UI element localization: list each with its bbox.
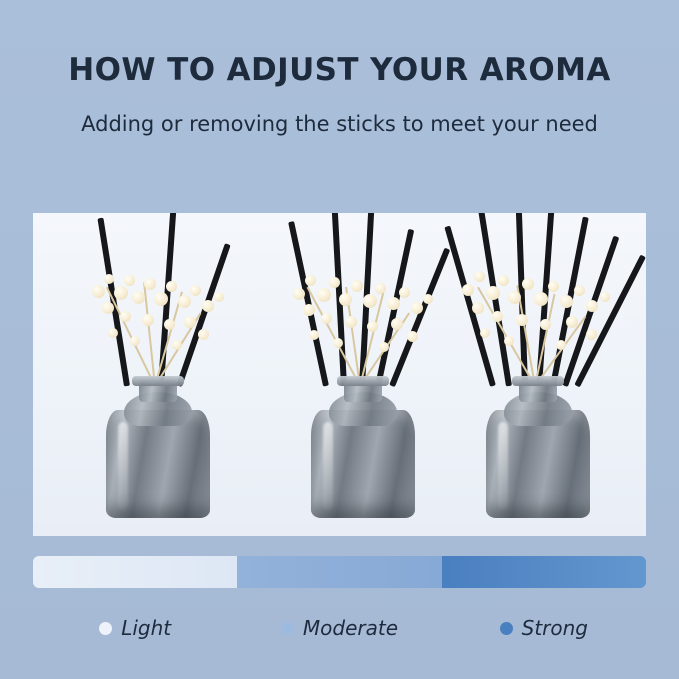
bottle-highlight [118,422,128,510]
legend-label: Moderate [303,616,398,640]
legend-item-moderate: Moderate [237,608,441,648]
flower-bloom [367,321,378,332]
flower-bloom [184,316,196,328]
product-photo [33,213,646,536]
flower-bloom [172,340,182,350]
flower-bloom [317,288,331,302]
flower-bloom [586,329,597,340]
flower-bloom [303,304,315,316]
flower-bloom [498,275,509,286]
legend-item-strong: Strong [442,608,646,648]
flower-bloom [178,295,191,308]
flower-bloom [375,283,386,294]
flower-bloom [586,300,598,312]
diffuser-group-strong [438,213,638,536]
flower-bloom [321,313,332,324]
flower-bloom [214,292,224,302]
flower-bloom [363,294,377,308]
bottle-highlight [498,422,508,510]
intensity-segment-light [33,556,237,588]
legend-dot-strong-icon [500,622,513,635]
flower-bloom [566,316,578,328]
poster-root: HOW TO ADJUST YOUR AROMA Adding or remov… [0,0,679,679]
bottle-highlight [323,422,333,510]
flower-bloom [508,291,521,304]
flower-bloom [379,342,389,352]
flower-bloom [516,314,528,326]
flower-bloom [574,285,585,296]
intensity-bar [33,556,646,588]
flower-bloom [472,302,484,314]
flower-bloom [522,278,534,290]
flower-bloom [540,319,551,330]
reed-stick [176,243,231,387]
legend-item-light: Light [33,608,237,648]
diffuser-bottle [486,378,590,518]
bottle-lip [337,376,389,386]
flower-bloom [600,292,610,302]
flower-bloom [345,316,357,328]
page-subtitle: Adding or removing the sticks to meet yo… [0,112,679,136]
flower-bloom [351,280,363,292]
flower-bloom [92,285,105,298]
flower-bloom [534,292,548,306]
flower-bloom [144,278,156,290]
flower-bloom [142,314,154,326]
flower-bloom [423,294,433,304]
flower-bloom [198,329,209,340]
flower-bloom [474,271,485,282]
bottle-lip [132,376,184,386]
legend-label: Strong [522,616,588,640]
diffuser-bottle [106,378,210,518]
flower-bloom [124,275,135,286]
diffuser-group-moderate [263,213,463,536]
flower-bloom [407,331,418,342]
flower-bloom [329,277,340,288]
flower-bloom [492,311,503,322]
flower-bloom [202,300,214,312]
flower-bloom [190,285,201,296]
flower-bloom [293,288,305,300]
intensity-segment-strong [442,556,646,588]
page-title: HOW TO ADJUST YOUR AROMA [0,52,679,88]
legend: Light Moderate Strong [33,608,646,648]
flower-bloom [305,275,316,286]
flower-bloom [120,311,131,322]
flower-bloom [391,318,403,330]
flower-bloom [480,328,490,338]
flower-bloom [504,336,514,346]
flower-bloom [486,286,500,300]
flower-bloom [130,336,140,346]
legend-label: Light [121,616,171,640]
photo-scene [33,213,646,536]
flower-bloom [339,293,352,306]
bottle-lip [512,376,564,386]
flower-bloom [399,287,410,298]
flower-bloom [154,292,168,306]
flower-bloom [108,328,118,338]
legend-dot-moderate-icon [281,622,294,635]
flower-bloom [548,281,559,292]
intensity-segment-moderate [237,556,441,588]
flower-bloom [462,284,474,296]
diffuser-group-light [58,213,258,536]
flower-bloom [132,291,145,304]
flower-bloom [556,340,566,350]
flower-bloom [387,297,400,310]
flower-bloom [411,302,423,314]
legend-dot-light-icon [99,622,112,635]
flower-bloom [166,281,177,292]
flower-bloom [333,338,343,348]
diffuser-bottle [311,378,415,518]
flower-bloom [560,295,573,308]
flower-bloom [104,274,114,284]
flower-bloom [114,286,128,300]
flower-bloom [309,330,319,340]
flower-bloom [164,319,175,330]
flower-bloom [102,302,114,314]
